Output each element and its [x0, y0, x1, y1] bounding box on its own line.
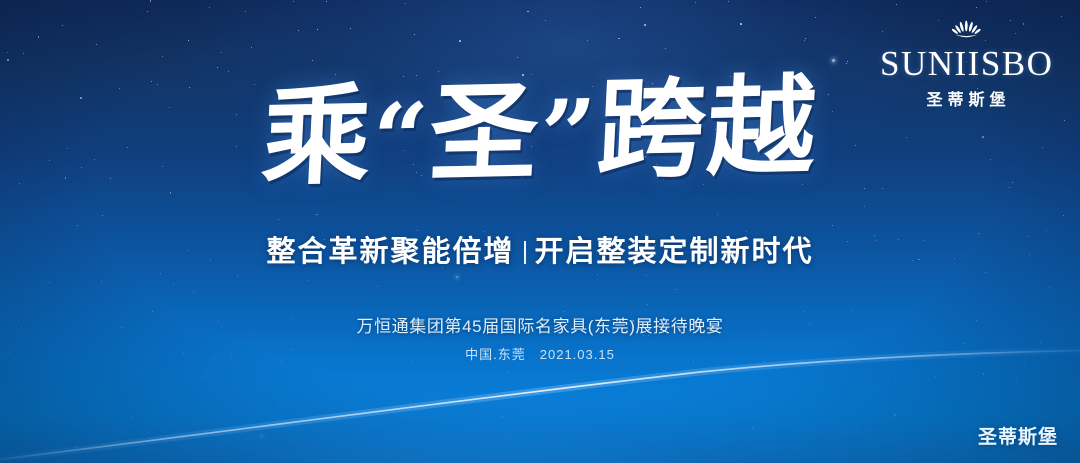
star-dot: [947, 449, 948, 450]
star-dot: [815, 17, 816, 18]
star-dot: [983, 373, 985, 375]
star-dot: [147, 11, 148, 12]
star-dot: [326, 1, 327, 2]
watermark-brand: 圣蒂斯堡: [978, 422, 1058, 449]
star-dot: [962, 443, 963, 444]
star-dot: [764, 431, 765, 432]
star-dot: [864, 188, 865, 189]
star-dot: [317, 29, 318, 30]
star-dot: [906, 457, 907, 458]
star-dot: [438, 402, 439, 403]
star-dot: [986, 1, 987, 2]
star-dot: [618, 38, 620, 40]
star-dot: [752, 428, 754, 430]
star-dot: [697, 455, 698, 456]
star-dot: [403, 76, 404, 77]
star-dot: [1038, 390, 1039, 391]
subtitle: 整合革新聚能倍增开启整装定制新时代: [0, 228, 1080, 270]
star-dot: [527, 11, 529, 13]
star-dot: [189, 450, 190, 451]
star-dot: [545, 20, 546, 21]
star-dot: [101, 281, 102, 282]
star-dot: [41, 408, 42, 409]
star-dot: [1012, 182, 1013, 183]
headline-part-3: 跨越: [594, 63, 820, 194]
star-dot: [131, 425, 132, 426]
star-dot: [157, 84, 158, 85]
subtitle-right: 开启整装定制新时代: [535, 236, 814, 268]
subtitle-left: 整合革新聚能倍增: [266, 236, 514, 268]
event-location: 中国.东莞: [465, 347, 526, 362]
star-dot: [976, 7, 977, 8]
star-dot: [162, 56, 163, 57]
star-dot: [138, 370, 139, 371]
star-dot: [148, 432, 149, 433]
star-dot: [168, 425, 169, 426]
star-dot: [910, 415, 911, 416]
star-dot: [1040, 342, 1041, 343]
star-dot: [1016, 378, 1017, 379]
star-dot: [278, 219, 279, 220]
star-dot: [935, 376, 936, 377]
star-dot: [206, 373, 207, 374]
star-dot: [856, 429, 857, 430]
star-dot: [151, 81, 152, 82]
star-dot: [38, 36, 40, 38]
star-dot: [193, 291, 194, 292]
star-dot: [131, 417, 132, 418]
star-dot: [60, 422, 61, 423]
subtitle-divider: [524, 241, 526, 264]
star-dot: [307, 280, 308, 281]
star-dot: [410, 403, 411, 404]
event-date-location: 中国.东莞2021.03.15: [0, 344, 1080, 363]
star-dot: [110, 385, 111, 386]
star-dot: [459, 40, 461, 42]
star-dot: [502, 416, 504, 418]
star-dot: [846, 63, 847, 64]
star-dot: [85, 387, 86, 388]
star-dot: [23, 53, 24, 54]
star-dot: [646, 275, 647, 276]
star-dot: [298, 30, 299, 31]
star-dot: [917, 409, 918, 410]
event-banner: SUNIISBO 圣蒂斯堡 乘“圣”跨越 整合革新聚能倍增开启整装定制新时代 万…: [0, 0, 1080, 463]
star-dot: [665, 48, 666, 49]
star-dot: [350, 28, 351, 29]
star-dot: [728, 1, 729, 2]
star-dot: [456, 276, 458, 278]
star-dot: [217, 67, 218, 68]
star-dot: [421, 410, 422, 411]
star-dot: [554, 440, 555, 441]
star-dot: [657, 373, 658, 374]
star-dot: [882, 188, 883, 189]
star-dot: [77, 225, 78, 226]
headline-open-quote: “: [370, 81, 433, 195]
headline-part-1: 乘: [259, 73, 375, 201]
star-dot: [864, 206, 865, 207]
headline-part-2: 圣: [427, 69, 543, 197]
star-dot: [644, 24, 646, 26]
star-dot: [221, 52, 222, 53]
star-dot: [896, 4, 897, 5]
star-dot: [157, 409, 158, 410]
star-dot: [279, 403, 280, 404]
star-dot: [507, 372, 508, 373]
star-dot: [312, 60, 313, 61]
star-dot: [245, 11, 246, 12]
star-dot: [49, 282, 50, 283]
lotus-sunburst-icon: [939, 20, 994, 40]
star-dot: [1024, 363, 1025, 364]
star-dot: [647, 304, 648, 305]
star-dot: [30, 460, 32, 462]
event-date: 2021.03.15: [540, 347, 615, 362]
star-dot: [1061, 16, 1062, 17]
star-dot: [1049, 287, 1050, 288]
star-dot: [985, 272, 986, 273]
star-dot: [96, 44, 97, 45]
headline-close-quote: ”: [537, 78, 600, 192]
star-dot: [851, 310, 853, 312]
star-dot: [895, 378, 896, 379]
star-dot: [160, 273, 161, 274]
star-dot: [150, 0, 152, 2]
star-dot: [807, 455, 808, 456]
star-dot: [847, 61, 848, 62]
star-dot: [52, 418, 53, 419]
star-dot: [922, 421, 923, 422]
star-dot: [695, 2, 696, 3]
star-dot: [201, 376, 202, 377]
star-dot: [740, 23, 742, 25]
star-dot: [805, 38, 806, 39]
star-dot: [209, 7, 210, 8]
star-dot: [251, 47, 252, 48]
star-dot: [102, 215, 103, 216]
star-dot: [640, 7, 641, 8]
star-dot: [832, 59, 834, 61]
star-dot: [676, 289, 677, 290]
star-dot: [405, 3, 406, 4]
star-dot: [62, 25, 63, 26]
star-dot: [804, 40, 805, 41]
star-dot: [894, 414, 896, 416]
star-dot: [1078, 378, 1079, 379]
star-dot: [416, 75, 417, 76]
star-dot: [556, 420, 557, 421]
star-dot: [228, 71, 229, 72]
star-dot: [293, 1, 294, 2]
star-dot: [517, 57, 518, 58]
star-dot: [1063, 215, 1064, 216]
star-dot: [597, 274, 598, 275]
event-title: 万恒通集团第45届国际名家具(东莞)展接待晚宴: [0, 312, 1080, 337]
star-dot: [316, 214, 318, 216]
star-dot: [76, 446, 78, 448]
star-dot: [524, 451, 525, 452]
star-dot: [7, 52, 8, 53]
star-dot: [237, 276, 238, 277]
star-dot: [414, 34, 415, 35]
star-dot: [832, 225, 833, 226]
star-dot: [7, 59, 9, 61]
star-dot: [173, 284, 174, 285]
star-dot: [1045, 396, 1046, 397]
star-dot: [587, 40, 588, 41]
page-title: 乘“圣”跨越: [0, 67, 1080, 198]
star-dot: [1009, 187, 1010, 188]
star-dot: [261, 435, 263, 437]
star-dot: [377, 286, 378, 287]
star-dot: [188, 40, 189, 41]
star-dot: [131, 416, 132, 417]
star-dot: [652, 461, 653, 462]
star-dot: [717, 214, 718, 215]
